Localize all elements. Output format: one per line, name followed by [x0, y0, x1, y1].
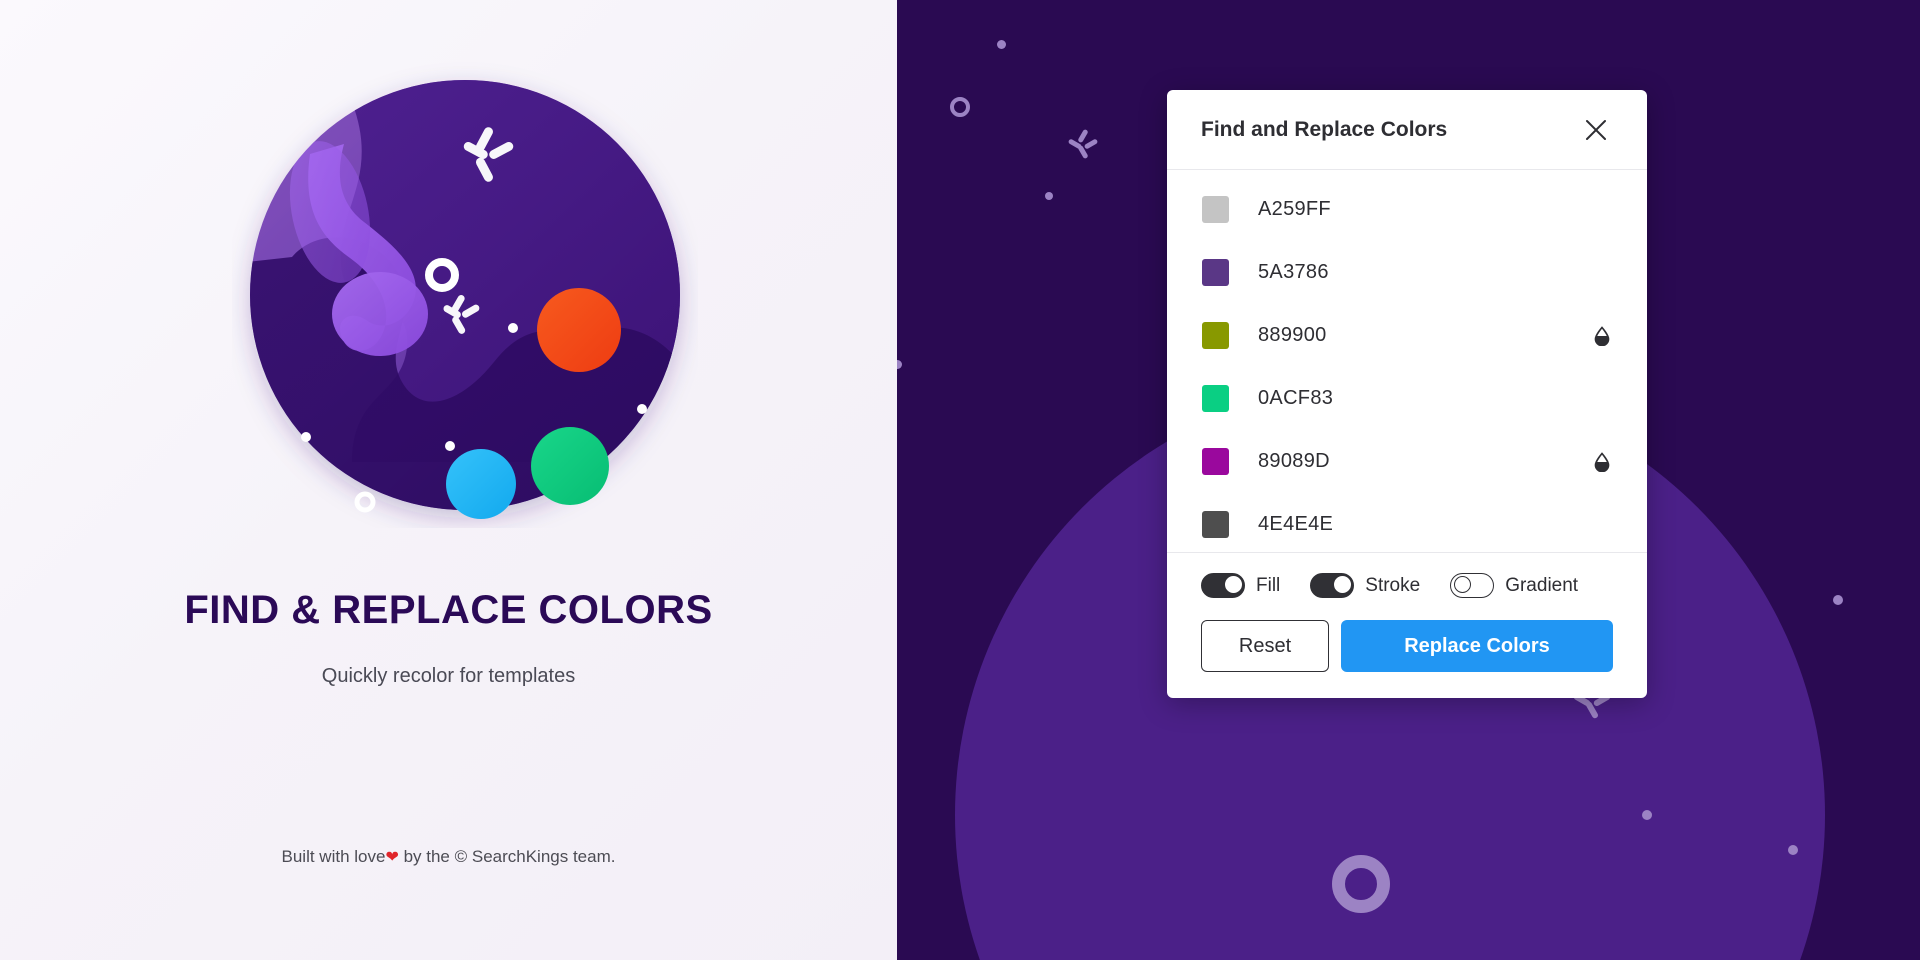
toggle-gradient-track[interactable] [1450, 573, 1494, 598]
color-swatch [1202, 448, 1229, 475]
color-row[interactable]: 4E4E4E [1167, 493, 1647, 553]
deco-ring-1 [950, 97, 970, 117]
illus-dot-2 [301, 432, 311, 442]
hero-sphere-illustration [232, 62, 698, 528]
button-row: Reset Replace Colors [1201, 620, 1613, 672]
illus-dot-4 [637, 404, 647, 414]
color-swatch [1202, 511, 1229, 538]
color-hex-label: 5A3786 [1258, 261, 1591, 284]
find-replace-colors-dialog: Find and Replace Colors A259FF [1167, 90, 1647, 698]
app-screen: FIND & REPLACE COLORS Quickly recolor fo… [0, 0, 1920, 960]
illus-ring-lower [357, 494, 373, 510]
deco-dot-5 [1642, 810, 1652, 820]
deco-dot-2 [1045, 192, 1053, 200]
close-icon[interactable] [1579, 113, 1613, 147]
toggle-fill-track[interactable] [1201, 573, 1245, 598]
deco-ring-2 [1332, 855, 1390, 913]
droplet-icon[interactable] [1591, 325, 1613, 347]
footer-credit-suffix: by the © SearchKings team. [399, 847, 616, 866]
droplet-icon[interactable] [1591, 451, 1613, 473]
toggle-stroke-knob [1334, 576, 1351, 593]
color-row[interactable]: 0ACF83 [1167, 367, 1647, 430]
color-row[interactable]: 89089D [1167, 430, 1647, 493]
illus-dot-3 [445, 441, 455, 451]
reset-button[interactable]: Reset [1201, 620, 1329, 672]
toggle-stroke-label: Stroke [1365, 575, 1420, 597]
toggle-stroke-track[interactable] [1310, 573, 1354, 598]
color-list[interactable]: A259FF 5A3786 889900 [1167, 170, 1647, 553]
color-row[interactable]: 5A3786 [1167, 241, 1647, 304]
toggle-gradient-label: Gradient [1505, 575, 1578, 597]
color-swatch [1202, 322, 1229, 349]
illus-circle-orange [537, 288, 621, 372]
dialog-footer: Fill Stroke Gradient [1167, 553, 1647, 698]
page-subtitle: Quickly recolor for templates [0, 665, 897, 688]
replace-colors-button[interactable]: Replace Colors [1341, 620, 1613, 672]
illus-dot-1 [508, 323, 518, 333]
color-hex-label: 89089D [1258, 450, 1591, 473]
footer-credit: Built with love❤ by the © SearchKings te… [0, 847, 897, 867]
color-swatch [1202, 385, 1229, 412]
color-hex-label: 4E4E4E [1258, 513, 1591, 536]
deco-dot-3 [897, 360, 902, 369]
color-hex-label: A259FF [1258, 198, 1591, 221]
color-hex-label: 0ACF83 [1258, 387, 1591, 410]
toggle-gradient[interactable]: Gradient [1450, 573, 1578, 598]
illus-circle-green [531, 427, 609, 505]
color-swatch [1202, 259, 1229, 286]
illus-circle-blue [446, 449, 516, 519]
footer-credit-prefix: Built with love [282, 847, 386, 866]
toggle-fill[interactable]: Fill [1201, 573, 1280, 598]
color-row[interactable]: 889900 [1167, 304, 1647, 367]
toggle-stroke[interactable]: Stroke [1310, 573, 1420, 598]
color-swatch [1202, 196, 1229, 223]
toggle-fill-knob [1225, 576, 1242, 593]
left-promo-pane: FIND & REPLACE COLORS Quickly recolor fo… [0, 0, 897, 960]
deco-dot-6 [1788, 845, 1798, 855]
color-row[interactable]: A259FF [1167, 178, 1647, 241]
deco-dot-1 [997, 40, 1006, 49]
color-hex-label: 889900 [1258, 324, 1591, 347]
toggle-fill-label: Fill [1256, 575, 1280, 597]
heart-icon: ❤ [385, 849, 398, 866]
deco-sparkle-1 [1067, 128, 1099, 160]
toggle-row: Fill Stroke Gradient [1201, 573, 1613, 598]
dialog-header: Find and Replace Colors [1167, 90, 1647, 170]
dialog-title: Find and Replace Colors [1201, 118, 1447, 142]
deco-dot-7 [1833, 595, 1843, 605]
toggle-gradient-knob [1454, 576, 1471, 593]
page-title: FIND & REPLACE COLORS [0, 588, 897, 633]
right-showcase-pane: Find and Replace Colors A259FF [897, 0, 1920, 960]
